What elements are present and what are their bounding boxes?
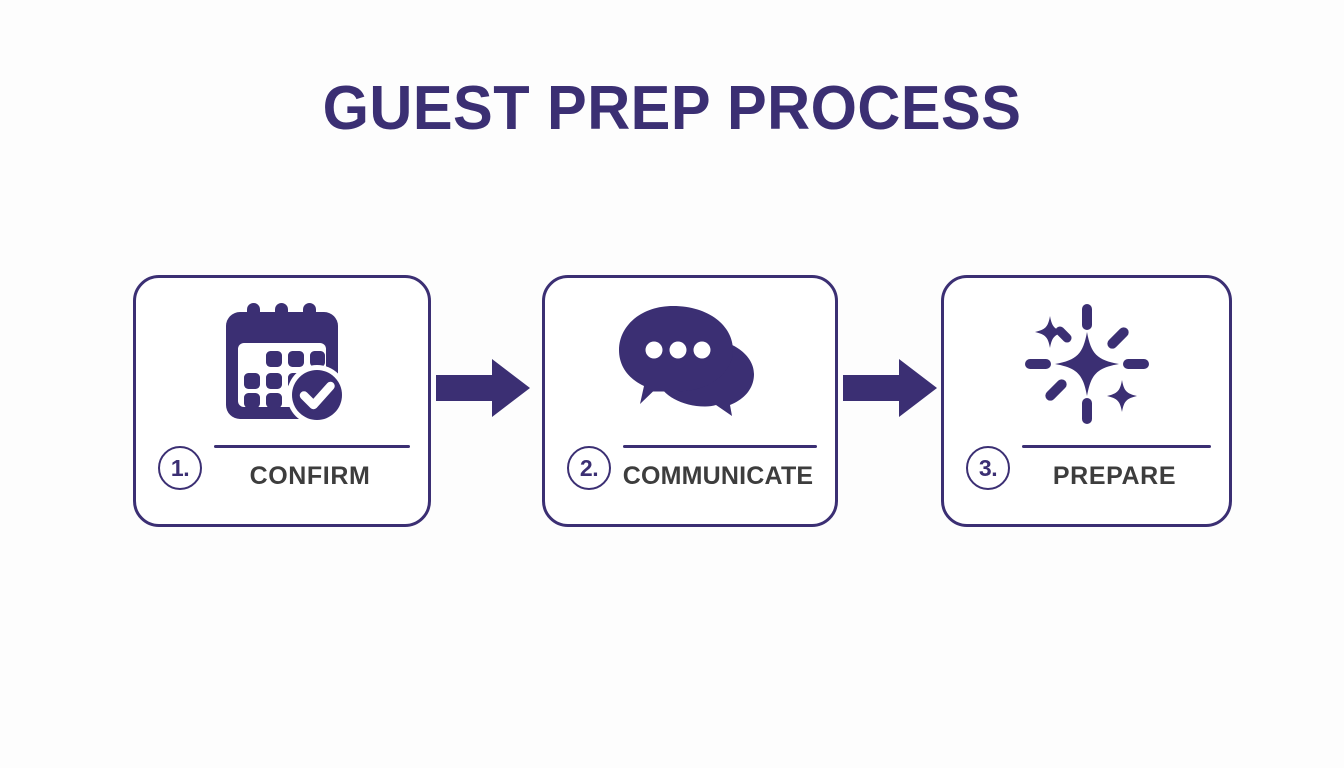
step-number-badge: 2. [567, 446, 611, 490]
step-number-badge: 3. [966, 446, 1010, 490]
step-number-badge: 1. [158, 446, 202, 490]
sparkle-icon [1021, 298, 1153, 430]
page-title: GUEST PREP PROCESS [27, 74, 1317, 144]
step-footer: 2. COMMUNICATE [567, 442, 817, 494]
process-flow: 1. CONFIRM [0, 275, 1344, 527]
step-divider-rule [1022, 445, 1211, 448]
step-footer: 1. CONFIRM [158, 442, 410, 494]
step-label: PREPARE [1018, 458, 1211, 494]
slide-canvas: GUEST PREP PROCESS [0, 0, 1344, 768]
step-card-confirm[interactable]: 1. CONFIRM [133, 275, 431, 527]
step-divider-rule [623, 445, 817, 448]
arrow-right-2 [841, 357, 939, 419]
speech-bubbles-icon [617, 304, 763, 424]
step-divider-rule [214, 445, 410, 448]
step-icon-container [944, 294, 1229, 434]
step-card-communicate[interactable]: 2. COMMUNICATE [542, 275, 838, 527]
step-icon-container [136, 294, 428, 434]
step-label: COMMUNICATE [619, 458, 817, 494]
step-footer: 3. PREPARE [966, 442, 1211, 494]
arrow-right-1 [434, 357, 532, 419]
calendar-check-icon [220, 303, 344, 425]
step-label: CONFIRM [210, 458, 410, 494]
step-icon-container [545, 294, 835, 434]
step-card-prepare[interactable]: 3. PREPARE [941, 275, 1232, 527]
